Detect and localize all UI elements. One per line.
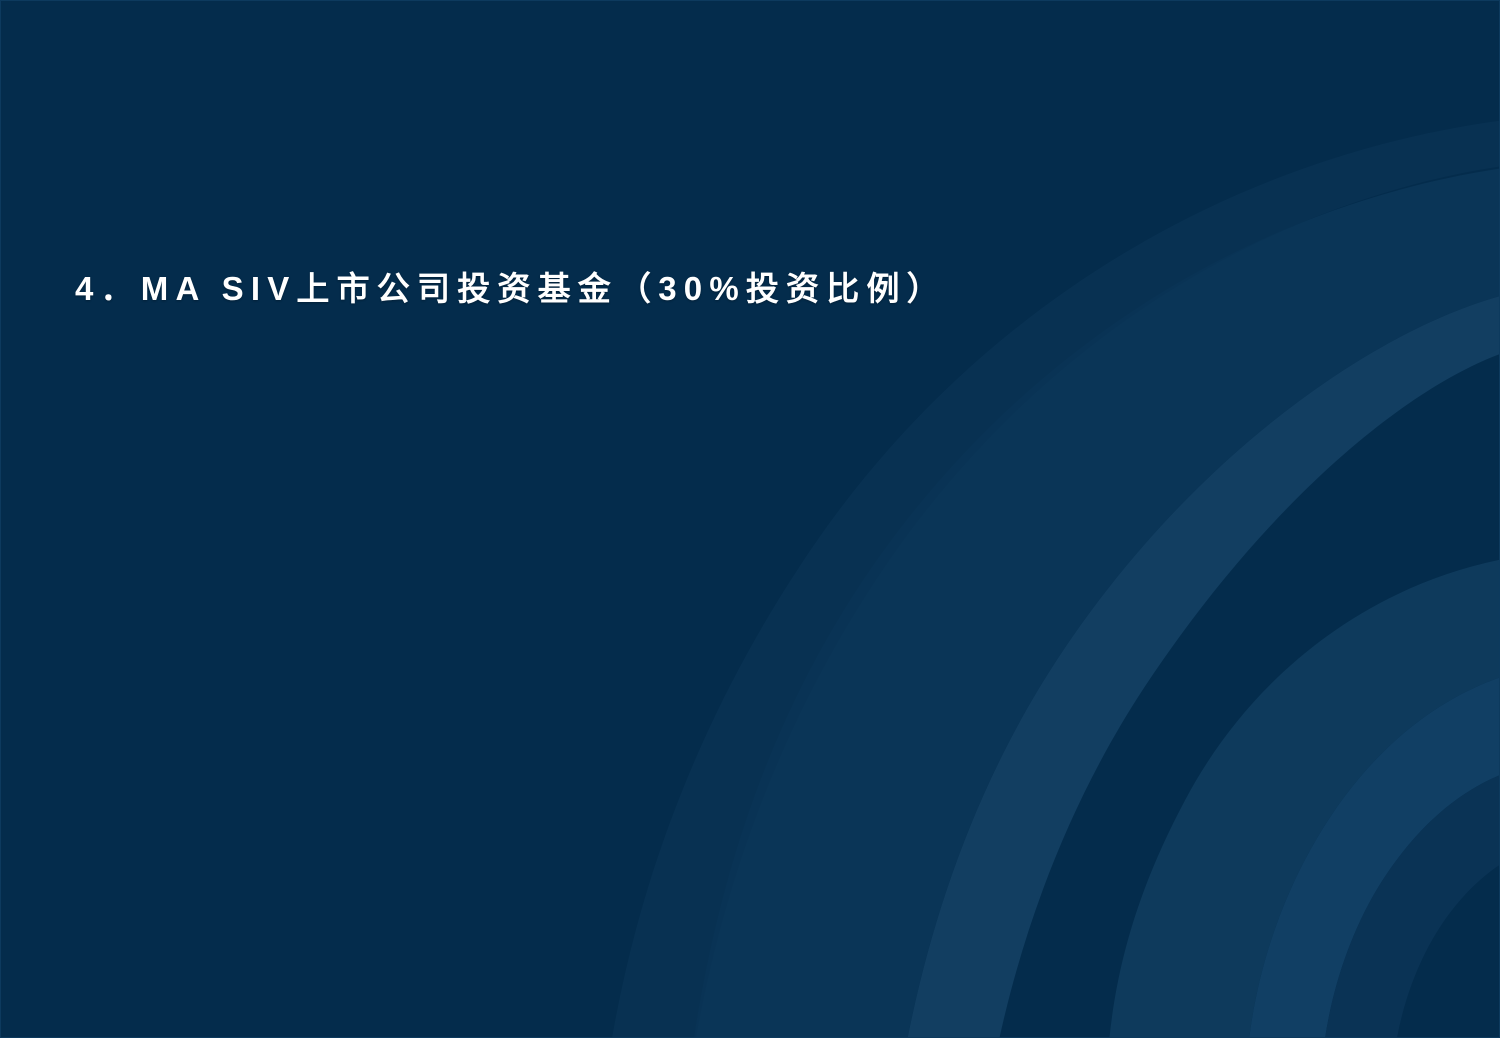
page-title: 4．MA SIV上市公司投资基金（30%投资比例） <box>75 269 947 309</box>
arc-ring-inner <box>1249 678 1499 1037</box>
arc-ring-outer-highlight <box>908 296 1499 1037</box>
concentric-arc-rings-decoration <box>1 1 1499 1037</box>
slide-title-block: 4．MA SIV上市公司投资基金（30%投资比例） <box>75 263 1135 315</box>
arc-ring-innermost <box>1325 776 1499 1037</box>
arc-ring-halo <box>612 121 1499 1037</box>
arc-ring-middle <box>1110 560 1499 1037</box>
presentation-slide: 4．MA SIV上市公司投资基金（30%投资比例） <box>0 0 1500 1038</box>
arc-ring-group <box>612 121 1499 1037</box>
